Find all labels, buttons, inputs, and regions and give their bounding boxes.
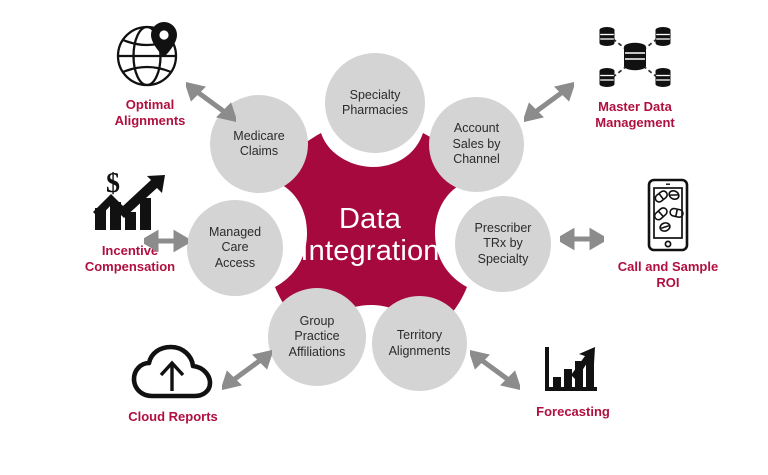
node-label: Prescriber TRx by Specialty: [475, 221, 532, 268]
arrow-cloud-reports: [222, 350, 272, 390]
cloud-upload-icon: [130, 344, 216, 404]
db-bottom-left: [600, 68, 615, 87]
bar-chart-arrow-icon: [541, 345, 605, 399]
node-group-practice-affiliations[interactable]: Group Practice Affiliations: [268, 288, 366, 386]
spoke-label: Forecasting: [536, 404, 610, 420]
arrow-call-and-sample-roi: [560, 228, 604, 250]
node-label: Group Practice Affiliations: [289, 314, 346, 361]
node-specialty-pharmacies[interactable]: Specialty Pharmacies: [325, 53, 425, 153]
node-label: Medicare Claims: [233, 129, 284, 160]
db-bottom-right: [656, 68, 671, 87]
arrow-forecasting: [470, 350, 520, 390]
spoke-call-and-sample-roi[interactable]: Call and Sample ROI: [598, 178, 738, 291]
dollar-growth-icon: $: [89, 172, 171, 238]
db-center: [624, 43, 646, 70]
spoke-label: Cloud Reports: [128, 409, 218, 425]
node-label: Account Sales by Channel: [453, 121, 501, 168]
tablet-pills-icon: [641, 178, 695, 254]
spoke-label: Call and Sample ROI: [618, 259, 718, 291]
spoke-cloud-reports[interactable]: Cloud Reports: [108, 344, 238, 425]
node-territory-alignments[interactable]: Territory Alignments: [372, 296, 467, 391]
arrow-master-data-management: [524, 82, 574, 122]
diagram-canvas: Data Integration Specialty Pharmacies Ac…: [0, 0, 768, 475]
spoke-master-data-management[interactable]: Master Data Management: [570, 22, 700, 131]
spoke-label: Optimal Alignments: [115, 97, 186, 129]
node-label: Specialty Pharmacies: [342, 88, 408, 119]
db-top-right: [656, 27, 671, 46]
node-account-sales-channel[interactable]: Account Sales by Channel: [429, 97, 524, 192]
globe-pin-icon: [111, 16, 189, 92]
spoke-incentive-compensation[interactable]: $ Incentive Compensation: [55, 172, 205, 275]
arrow-optimal-alignments: [186, 82, 236, 122]
node-label: Territory Alignments: [389, 328, 451, 359]
spoke-label: Master Data Management: [595, 99, 674, 131]
node-prescriber-trx[interactable]: Prescriber TRx by Specialty: [455, 196, 551, 292]
arrow-incentive-compensation: [144, 230, 188, 252]
node-label: Managed Care Access: [209, 225, 261, 272]
svg-text:$: $: [106, 172, 120, 199]
spoke-forecasting[interactable]: Forecasting: [518, 345, 628, 420]
db-top-left: [600, 27, 615, 46]
database-network-icon: [593, 22, 677, 94]
